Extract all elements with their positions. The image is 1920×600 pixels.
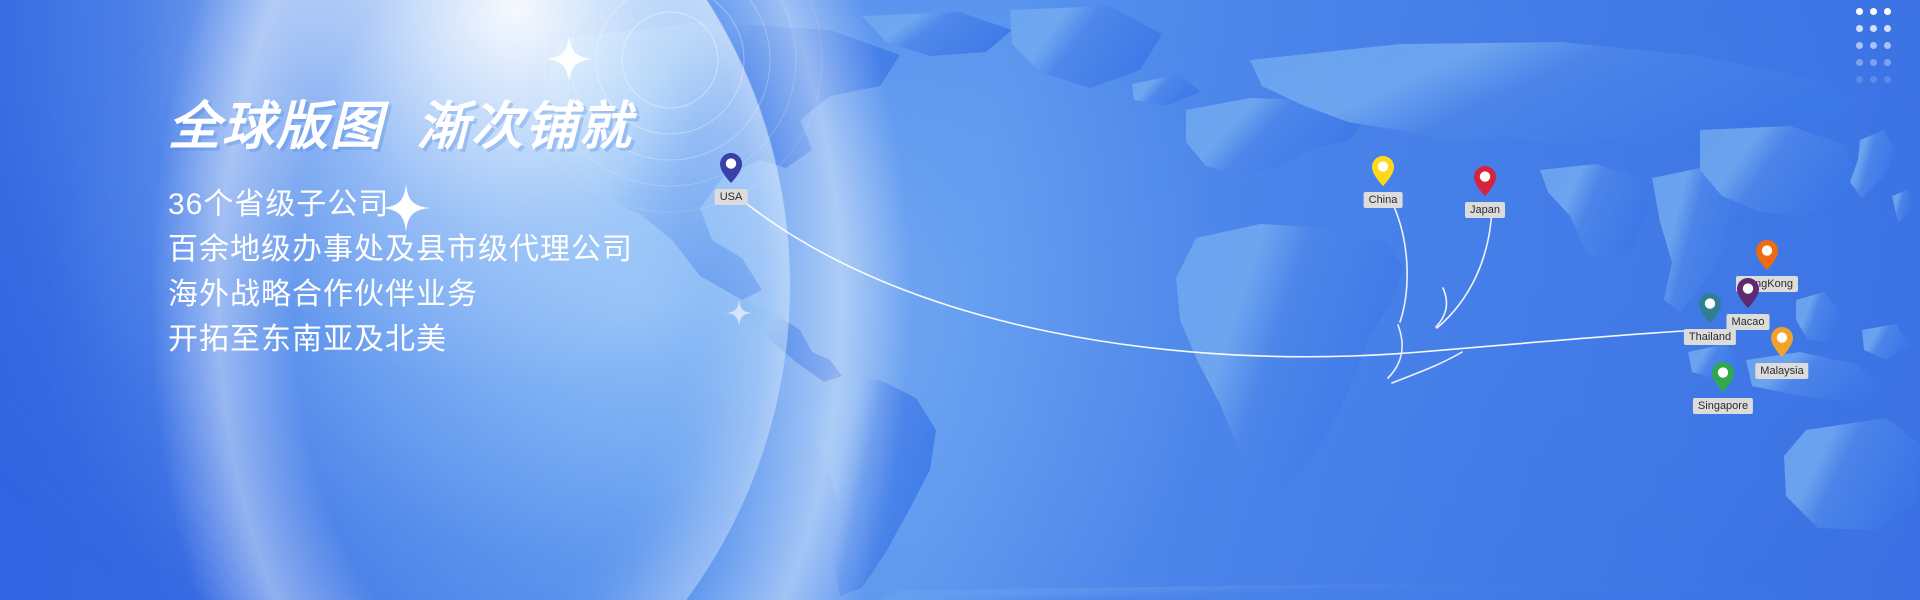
map-marker-label: Japan — [1465, 202, 1505, 218]
map-marker-label: Macao — [1726, 314, 1769, 330]
list-item: 36个省级子公司 — [168, 182, 928, 227]
location-pin-icon — [1699, 293, 1721, 323]
list-item: 海外战略合作伙伴业务 — [168, 272, 928, 317]
dot-grid-decor — [1856, 8, 1898, 93]
location-pin-icon — [1712, 362, 1734, 392]
location-pin-icon — [1372, 156, 1394, 186]
list-item: 开拓至东南亚及北美 — [168, 317, 928, 362]
map-marker-label: USA — [715, 189, 748, 205]
page-title: 全球版图 渐次铺就 — [168, 96, 928, 158]
location-pin-icon — [1771, 327, 1793, 357]
highlight-list: 36个省级子公司 百余地级办事处及县市级代理公司 海外战略合作伙伴业务 开拓至东… — [168, 182, 928, 362]
location-pin-icon — [720, 153, 742, 183]
global-map-banner: 全球版图 渐次铺就 36个省级子公司 百余地级办事处及县市级代理公司 海外战略合… — [0, 0, 1920, 600]
location-pin-icon — [1756, 240, 1778, 270]
sparkle-icon-top — [546, 36, 592, 82]
map-marker-label: Thailand — [1684, 329, 1736, 345]
location-pin-icon — [1474, 166, 1496, 196]
list-item: 百余地级办事处及县市级代理公司 — [168, 227, 928, 272]
copy-block: 全球版图 渐次铺就 36个省级子公司 百余地级办事处及县市级代理公司 海外战略合… — [168, 96, 928, 362]
map-marker-label: China — [1364, 192, 1403, 208]
location-pin-icon — [1737, 278, 1759, 308]
map-marker-label: Malaysia — [1755, 363, 1808, 379]
map-marker-label: Singapore — [1693, 398, 1753, 414]
